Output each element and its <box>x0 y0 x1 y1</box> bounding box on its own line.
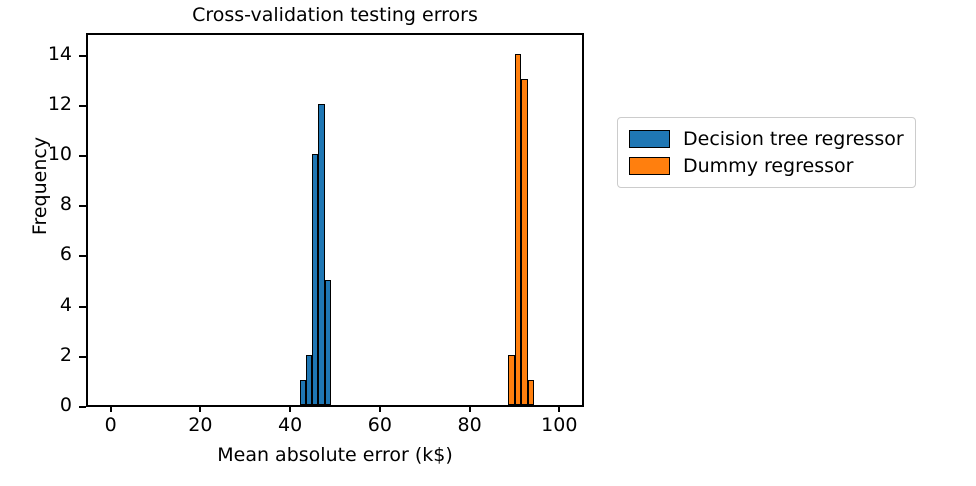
legend: Decision tree regressorDummy regressor <box>617 117 916 188</box>
legend-item-label: Decision tree regressor <box>683 128 904 150</box>
y-tick-label: 2 <box>0 344 72 366</box>
legend-swatch-icon <box>629 157 670 175</box>
x-tick-mark <box>289 405 291 412</box>
y-tick-label: 0 <box>0 394 72 416</box>
y-tick-mark <box>79 205 86 207</box>
y-tick-label: 14 <box>0 43 72 65</box>
histogram-bar <box>528 380 535 405</box>
y-tick-mark <box>79 155 86 157</box>
x-tick-mark <box>379 405 381 412</box>
x-tick-mark <box>110 405 112 412</box>
legend-swatch-icon <box>629 130 670 148</box>
figure-canvas: Cross-validation testing errors 02040608… <box>0 0 976 486</box>
chart-title: Cross-validation testing errors <box>86 2 584 28</box>
x-axis-label: Mean absolute error (k$) <box>86 444 584 466</box>
y-tick-mark <box>79 356 86 358</box>
x-tick-label: 0 <box>81 414 141 436</box>
y-axis-label: Frequency <box>29 66 51 306</box>
x-tick-label: 100 <box>529 414 589 436</box>
y-tick-mark <box>79 255 86 257</box>
histogram-bar <box>521 79 528 405</box>
x-tick-mark <box>199 405 201 412</box>
y-tick-mark <box>79 105 86 107</box>
x-tick-label: 80 <box>440 414 500 436</box>
y-tick-mark <box>79 55 86 57</box>
histogram-bar <box>325 280 331 406</box>
y-tick-mark <box>79 406 86 408</box>
x-tick-label: 60 <box>350 414 410 436</box>
plot-area <box>86 33 584 407</box>
histogram-bar <box>515 54 522 405</box>
histogram-bars <box>88 35 582 405</box>
x-tick-mark <box>469 405 471 412</box>
y-tick-mark <box>79 306 86 308</box>
x-tick-label: 40 <box>260 414 320 436</box>
x-tick-mark <box>558 405 560 412</box>
legend-item: Dummy regressor <box>629 152 904 179</box>
x-tick-label: 20 <box>170 414 230 436</box>
legend-item-label: Dummy regressor <box>683 155 853 177</box>
legend-item: Decision tree regressor <box>629 125 904 152</box>
